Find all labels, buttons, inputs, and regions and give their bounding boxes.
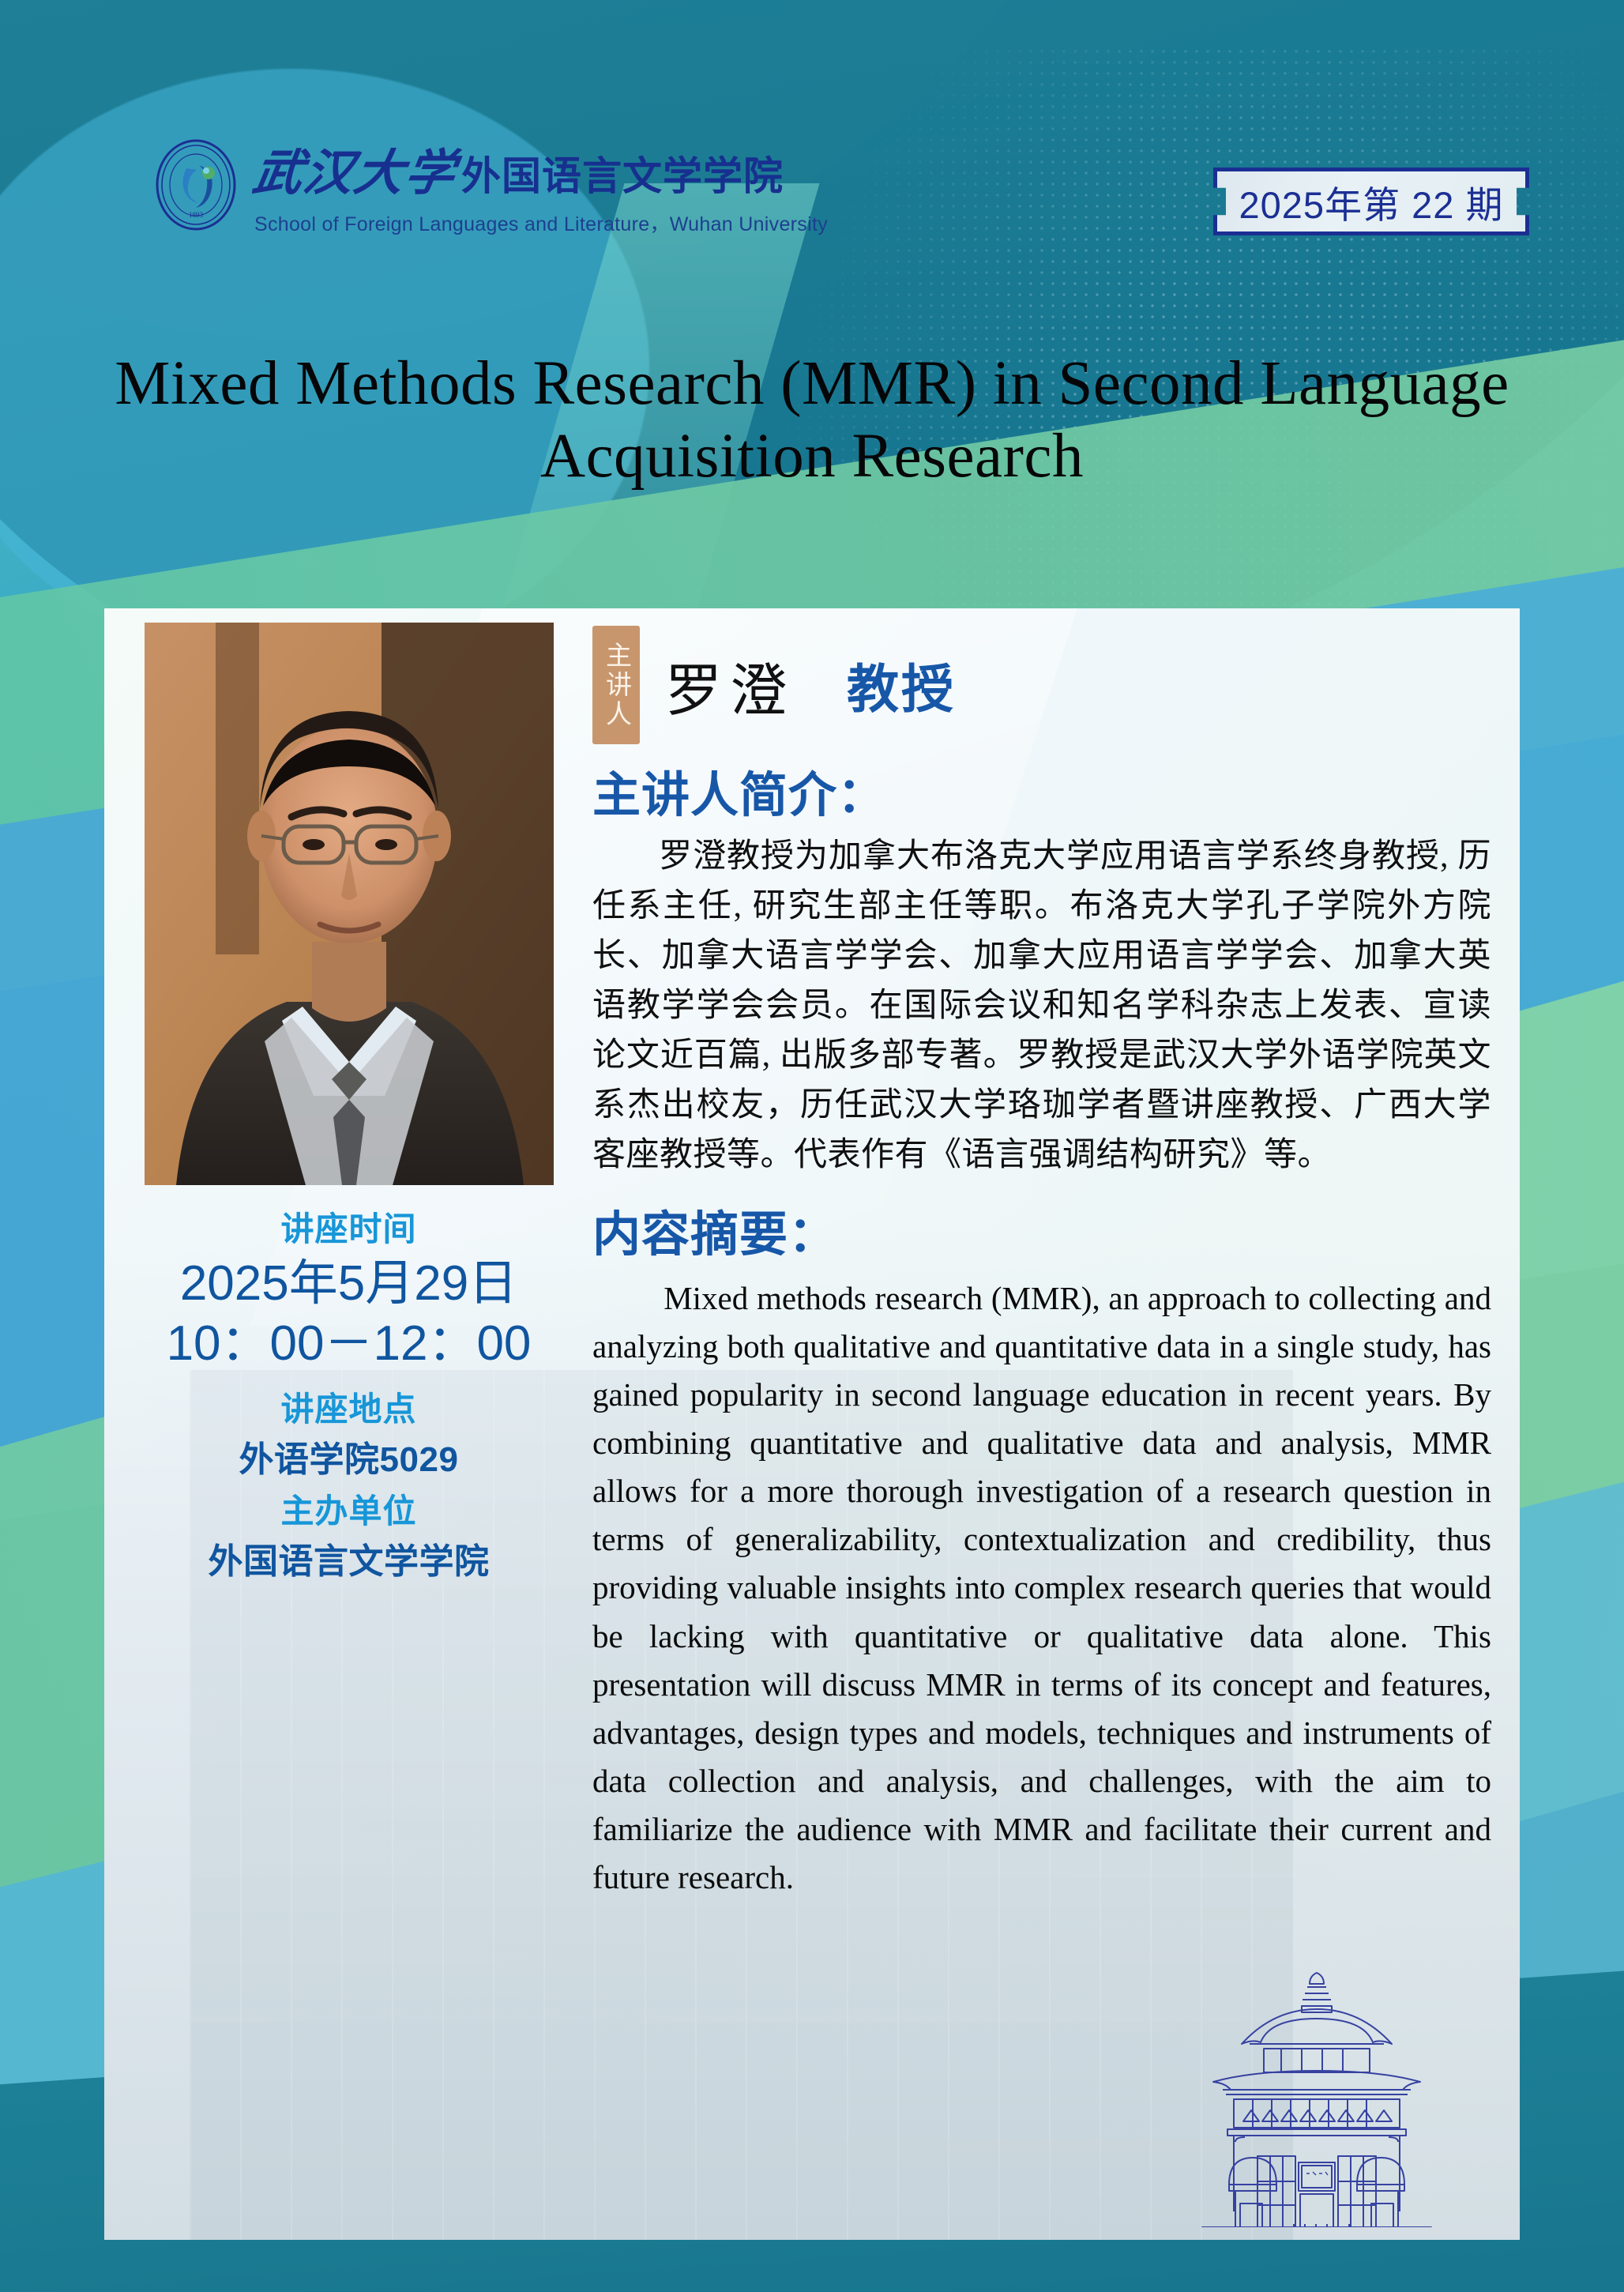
speaker-row: 主讲人 罗澄 教授 <box>592 626 1491 744</box>
speaker-portrait <box>145 623 554 1185</box>
bio-text: 罗澄教授为加拿大布洛克大学应用语言学系终身教授, 历任系主任, 研究生部主任等职… <box>592 832 1491 1180</box>
bio-heading: 主讲人简介： <box>592 755 1491 826</box>
department-name: 外国语言文学学院 <box>461 145 784 201</box>
school-logo-lockup: 1893 武汉大学 外国语言文学学院 School of Foreign Lan… <box>155 133 828 237</box>
lecture-details: 讲座时间 2025年5月29日 10：00－12：00 讲座地点 外语学院502… <box>130 1204 567 1588</box>
abstract-text: Mixed methods research (MMR), an approac… <box>592 1274 1491 1902</box>
organizer-value: 外国语言文学学院 <box>130 1536 567 1588</box>
svg-text:1893: 1893 <box>189 211 204 219</box>
lecture-time: 10：00－12：00 <box>130 1314 567 1374</box>
details-column: 讲座时间 2025年5月29日 10：00－12：00 讲座地点 外语学院502… <box>104 608 586 2240</box>
venue-value: 外语学院5029 <box>130 1434 567 1486</box>
poster-header: 1893 武汉大学 外国语言文学学院 School of Foreign Lan… <box>0 0 1624 261</box>
lecture-poster: 1893 武汉大学 外国语言文学学院 School of Foreign Lan… <box>0 0 1624 2292</box>
time-label: 讲座时间 <box>130 1204 567 1254</box>
abstract-heading: 内容摘要： <box>592 1195 1491 1265</box>
venue-label: 讲座地点 <box>130 1384 567 1434</box>
speaker-academic-title: 教授 <box>847 647 956 723</box>
lecture-date: 2025年5月29日 <box>130 1254 567 1314</box>
speaker-tab-label: 主讲人 <box>592 626 640 744</box>
speaker-name: 罗澄 <box>665 644 795 727</box>
issue-badge: 2025年第 22 期 <box>1213 167 1529 235</box>
organizer-label: 主办单位 <box>130 1486 567 1536</box>
content-card: 讲座时间 2025年5月29日 10：00－12：00 讲座地点 外语学院502… <box>104 608 1520 2240</box>
school-name-english: School of Foreign Languages and Literatu… <box>254 209 828 237</box>
university-name-script: 武汉大学 <box>249 133 462 204</box>
school-wordmark: 武汉大学 外国语言文学学院 School of Foreign Language… <box>254 133 828 237</box>
issue-badge-label: 2025年第 22 期 <box>1239 175 1504 229</box>
old-library-building-icon <box>1147 1966 1487 2227</box>
lecture-title: Mixed Methods Research (MMR) in Second L… <box>0 348 1624 494</box>
university-seal-icon: 1893 <box>155 138 237 231</box>
